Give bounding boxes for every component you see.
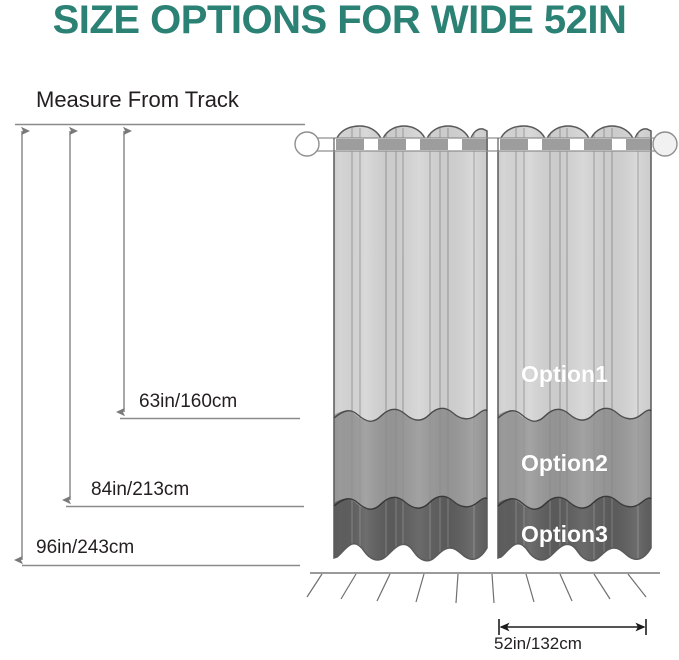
- floor: [307, 573, 660, 603]
- rod-finial-right: [653, 132, 677, 156]
- option3-label: Option3: [521, 521, 608, 548]
- option2-label: Option2: [521, 450, 608, 477]
- curtain-illustration: [0, 0, 679, 660]
- dimension-label-option1: 63in/160cm: [139, 391, 237, 413]
- diagram-canvas: SIZE OPTIONS FOR WIDE 52IN Measure From …: [0, 0, 679, 660]
- dimension-label-width: 52in/132cm: [494, 634, 582, 654]
- rod-finial-left: [295, 132, 319, 156]
- dimension-label-option2: 84in/213cm: [91, 479, 189, 501]
- dimension-label-option3: 96in/243cm: [36, 537, 134, 559]
- floor-hatching: [307, 574, 646, 603]
- curtain-panel-left: [330, 120, 492, 580]
- curtain-panel-right: [494, 120, 656, 580]
- option1-label: Option1: [521, 361, 608, 388]
